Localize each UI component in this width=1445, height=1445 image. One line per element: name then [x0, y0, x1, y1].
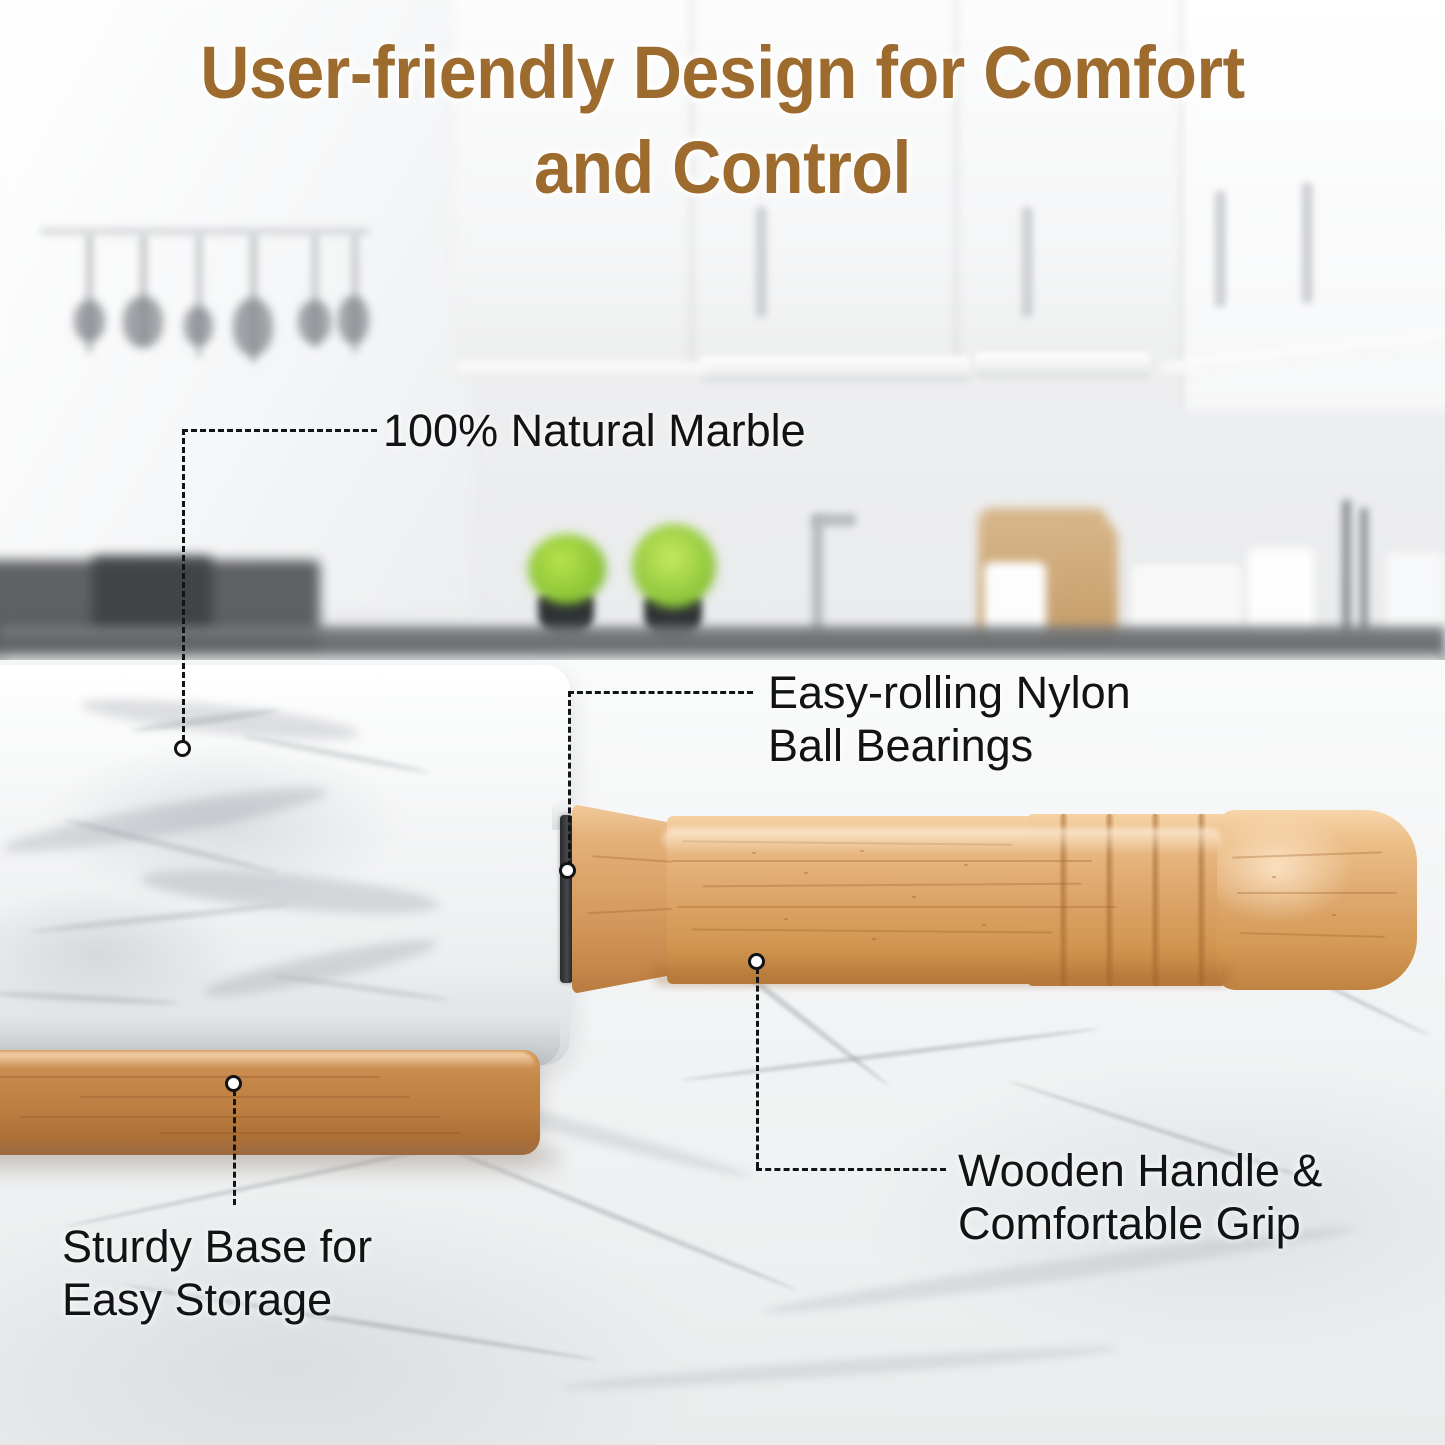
base-shadow: [0, 1148, 560, 1184]
cabinet-bottom-rail: [975, 352, 1150, 378]
page-title: User-friendly Design for Comfort and Con…: [58, 26, 1387, 215]
callout-label-natural-marble: 100% Natural Marble: [383, 404, 806, 457]
cabinet-handle: [1022, 206, 1032, 318]
hanging-utensil-head: [233, 298, 273, 356]
hanging-utensil-head: [184, 306, 213, 346]
knife-block-knife: [1342, 500, 1351, 634]
marble-roller-body: [0, 665, 570, 1065]
hanging-utensil-head: [74, 300, 105, 342]
cabinet-bottom-rail: [700, 356, 970, 382]
hanging-utensil-head: [298, 300, 331, 344]
cabinet-handle: [756, 206, 766, 318]
hanging-utensil-head: [338, 296, 369, 344]
callout-dot-ball-bearings: [559, 862, 576, 879]
handle-end-cap: [1217, 810, 1417, 990]
faucet-spout: [812, 514, 856, 526]
callout-label-sturdy-base: Sturdy Base for Easy Storage: [62, 1220, 372, 1326]
utensil-rail: [40, 228, 370, 235]
callout-dot-natural-marble: [174, 740, 191, 757]
base-highlight: [0, 1052, 535, 1068]
callout-label-ball-bearings: Easy-rolling Nylon Ball Bearings: [768, 666, 1131, 772]
callout-label-wooden-handle: Wooden Handle & Comfortable Grip: [958, 1144, 1322, 1250]
wooden-handle: [572, 798, 1362, 998]
cutting-board-small: [1062, 524, 1118, 640]
product-infographic: User-friendly Design for Comfort and Con…: [0, 0, 1445, 1445]
plant-foliage: [632, 524, 716, 608]
handle-shade: [652, 956, 1232, 986]
under-cabinet-light: [455, 362, 705, 374]
marble-roller-highlight: [0, 665, 570, 705]
knife-block-knife: [1360, 508, 1368, 634]
plant-foliage: [528, 534, 606, 604]
faucet: [812, 516, 823, 636]
hanging-utensil-head: [123, 296, 163, 348]
handle-highlight: [662, 828, 1222, 854]
